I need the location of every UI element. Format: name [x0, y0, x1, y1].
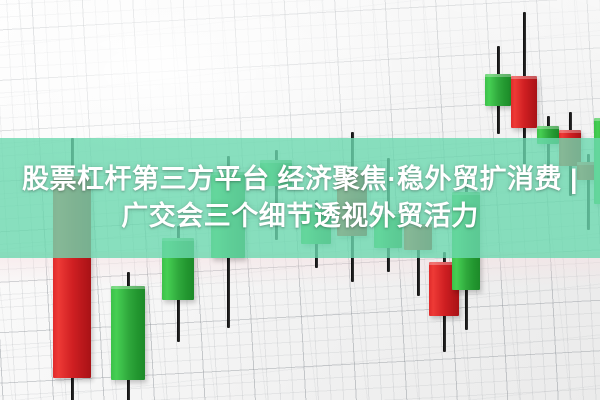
candlestick-body-up [537, 126, 559, 144]
candlestick [452, 0, 480, 400]
candlestick-body-up [260, 160, 292, 186]
candlestick-body-up [485, 74, 511, 106]
candlestick [337, 0, 367, 400]
candlestick [162, 0, 194, 400]
candlestick [485, 0, 511, 400]
candlestick [260, 0, 292, 400]
candlestick [111, 0, 145, 400]
candlestick-body-up [594, 118, 600, 204]
candlestick [374, 0, 402, 400]
candlestick-body-up [162, 238, 194, 300]
candlestick [53, 0, 91, 400]
candlestick [211, 0, 245, 400]
candlestick-body-up [374, 214, 402, 248]
candlestick-body-down [511, 76, 537, 128]
candlestick [301, 0, 331, 400]
candlestick-body-down [337, 170, 367, 236]
candlestick [404, 0, 432, 400]
candlestick-body-up [301, 208, 331, 244]
candlestick [511, 0, 537, 400]
candlestick [594, 0, 600, 400]
candlestick-body-down [404, 224, 432, 250]
candlestick-body-down [53, 176, 91, 378]
candlestick-body-up [211, 172, 245, 258]
candlestick-series [0, 0, 600, 400]
candlestick-banner-image: 股票杠杆第三方平台 经济聚焦·稳外贸扩消费 | 广交会三个细节透视外贸活力 [0, 0, 600, 400]
candlestick-body-up [452, 192, 480, 290]
candlestick [537, 0, 559, 400]
candlestick-body-up [111, 286, 145, 380]
